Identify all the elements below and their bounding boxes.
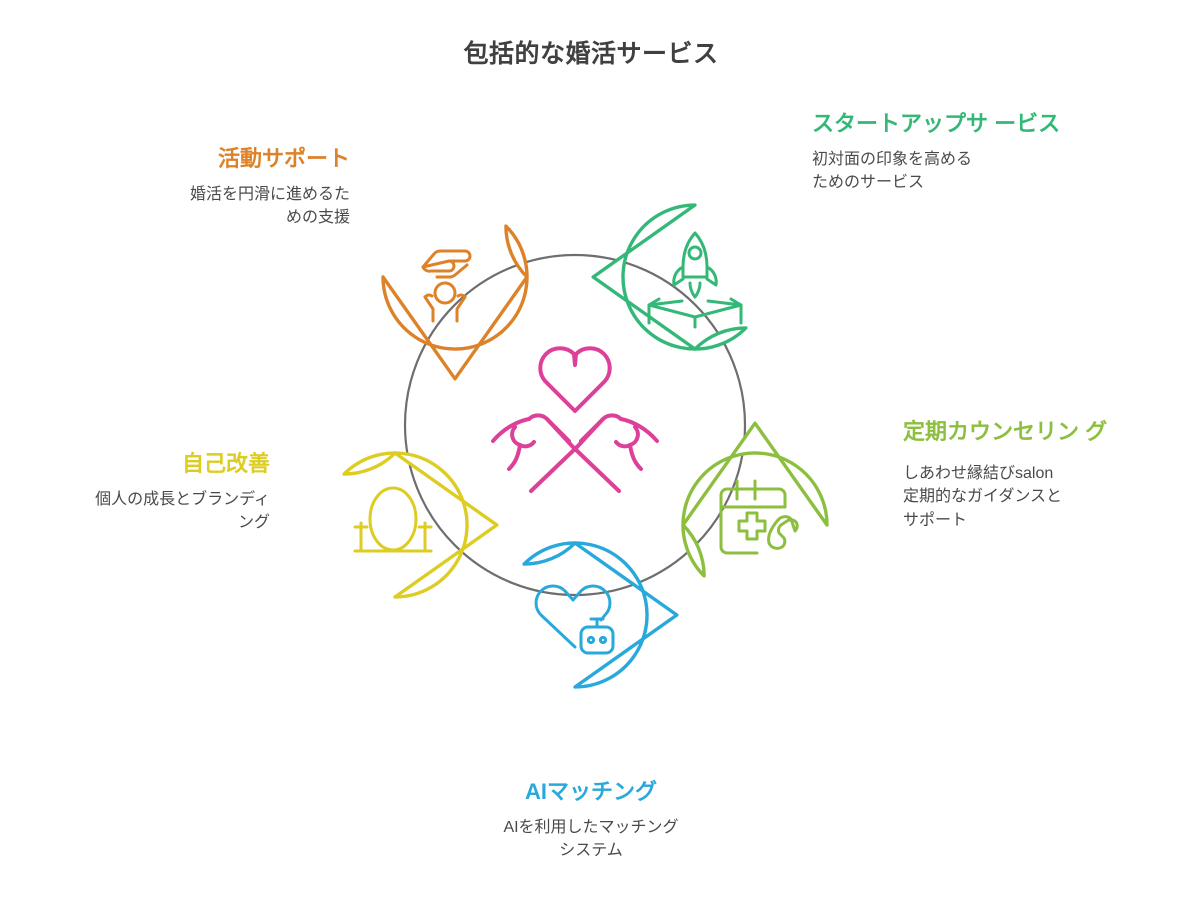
hand-over-person-icon [423, 251, 470, 321]
pin-counseling[interactable] [653, 423, 842, 612]
infographic-canvas: 包括的な婚活サービス [0, 0, 1182, 898]
label-counseling: 定期カウンセリン グ しあわせ縁結びsalon 定期的なガイダンスと サポート [903, 418, 1163, 532]
pin-startup-service[interactable] [593, 190, 782, 379]
heart-pinky-promise-hands-icon [493, 348, 657, 491]
vanity-mirror-icon [355, 488, 431, 551]
pin-self-improvement[interactable] [308, 423, 497, 612]
pin-shape-green [593, 190, 782, 379]
label-desc-activity-support: 婚活を円滑に進めるた めの支援 [88, 183, 350, 229]
pin-activity-support[interactable] [368, 190, 557, 379]
label-desc-ai-matching: AIを利用したマッチング システム [400, 816, 782, 862]
label-activity-support: 活動サポート 婚活を円滑に進めるた めの支援 [88, 145, 350, 230]
page-title: 包括的な婚活サービス [0, 34, 1182, 70]
label-desc-counseling: しあわせ縁結びsalon 定期的なガイダンスと サポート [903, 462, 1163, 532]
label-title-startup-service: スタートアップサ ービス [812, 110, 1064, 138]
label-title-counseling: 定期カウンセリン グ [903, 418, 1163, 446]
label-desc-self-improvement: 個人の成長とブランディ ング [8, 488, 270, 534]
label-title-activity-support: 活動サポート [88, 145, 350, 173]
pin-shape-blue [488, 513, 677, 702]
label-self-improvement: 自己改善 個人の成長とブランディ ング [8, 450, 270, 535]
label-title-self-improvement: 自己改善 [8, 450, 270, 478]
pin-shape-orange [368, 190, 557, 379]
pin-wheel-diagram [265, 175, 885, 765]
label-desc-startup-service: 初対面の印象を高める ためのサービス [812, 148, 1064, 194]
label-title-ai-matching: AIマッチング [400, 778, 782, 806]
heart-robot-icon [536, 586, 613, 653]
pin-ai-matching[interactable] [488, 513, 677, 702]
label-ai-matching: AIマッチング AIを利用したマッチング システム [400, 778, 782, 863]
pin-shape-gold [308, 423, 497, 612]
label-startup-service: スタートアップサ ービス 初対面の印象を高める ためのサービス [812, 110, 1064, 195]
